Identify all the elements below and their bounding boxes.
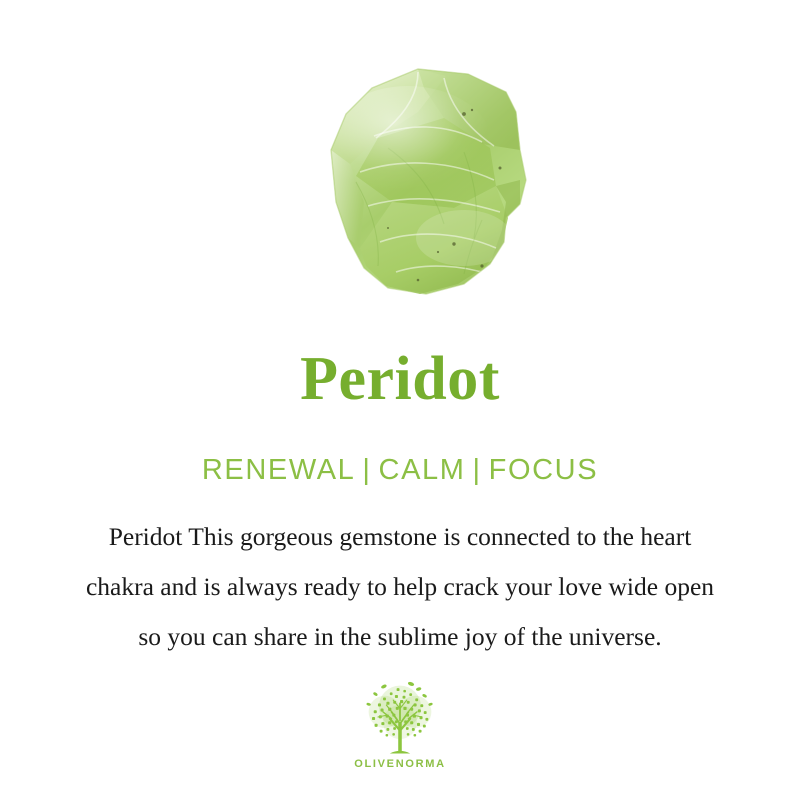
peridot-stone-svg <box>268 52 558 302</box>
page-title: Peridot <box>300 318 500 410</box>
description-line-1: Peridot This gorgeous gemstone is connec… <box>0 512 800 562</box>
stone-gloss-lower <box>416 210 512 266</box>
brand-name: OLIVENORMA <box>354 758 446 770</box>
tree-icon <box>357 678 443 756</box>
keyword-separator-1: | <box>355 454 378 486</box>
peridot-stone-image <box>268 52 558 302</box>
stone-gloss <box>322 86 494 210</box>
brand-logo: OLIVENORMA <box>0 678 800 770</box>
description-line-3: so you can share in the sublime joy of t… <box>0 612 800 662</box>
hero-image-area <box>0 0 800 318</box>
keyword-focus: FOCUS <box>489 454 599 486</box>
gemstone-info-card: Peridot RENEWAL|CALM|FOCUS Peridot This … <box>0 0 800 800</box>
description-text: Peridot This gorgeous gemstone is connec… <box>0 485 800 662</box>
keyword-calm: CALM <box>379 454 466 486</box>
description-line-2: chakra and is always ready to help crack… <box>0 562 800 612</box>
keyword-separator-2: | <box>466 454 489 486</box>
keyword-renewal: RENEWAL <box>202 454 356 486</box>
keyword-line: RENEWAL|CALM|FOCUS <box>202 410 598 485</box>
tree-base <box>390 751 410 754</box>
